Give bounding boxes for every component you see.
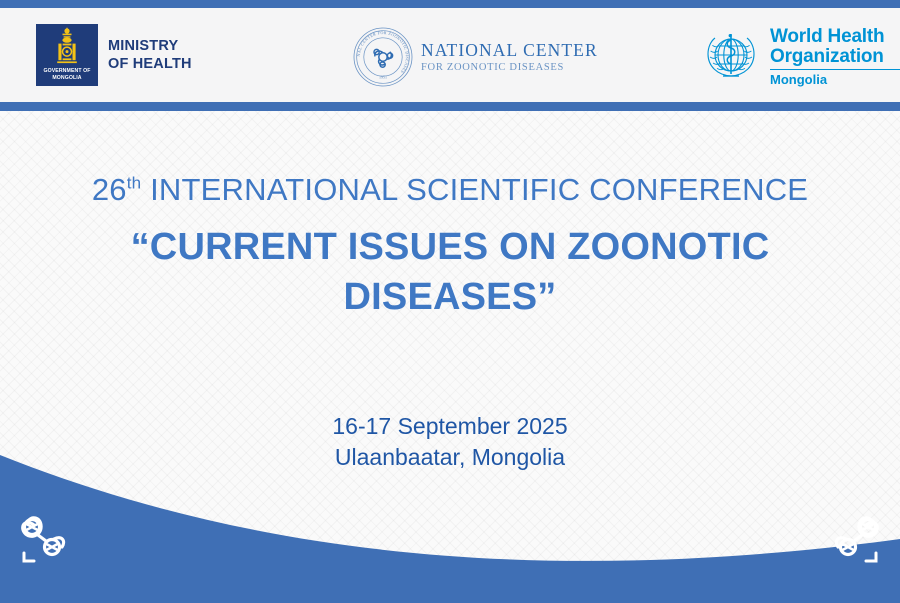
title-block: 26th INTERNATIONAL SCIENTIFIC CONFERENCE… [0, 171, 900, 322]
mongolia-state-emblem-icon: GOVERNMENT OF MONGOLIA [36, 24, 98, 86]
theme-title-line1: “CURRENT ISSUES ON ZOONOTIC [0, 222, 900, 272]
logo-world-health-organization: World Health Organization Mongolia [700, 26, 900, 88]
theme-title-line2: DISEASES” [0, 272, 900, 322]
theme-title: “CURRENT ISSUES ON ZOONOTIC DISEASES” [0, 222, 900, 322]
conference-poster: GOVERNMENT OF MONGOLIA MINISTRY OF HEALT… [0, 0, 900, 603]
mongolian-ulzii-knot-left-icon [16, 509, 84, 571]
who-emblem-icon [700, 26, 762, 88]
emblem-caption-line2: MONGOLIA [52, 75, 81, 81]
moh-label-line1: MINISTRY [108, 37, 192, 55]
event-location: Ulaanbaatar, Mongolia [0, 442, 900, 473]
ministry-of-health-label: MINISTRY OF HEALTH [108, 37, 192, 73]
nczd-name: NATIONAL CENTER [421, 41, 598, 60]
conference-ordinal: th [127, 174, 142, 193]
conference-heading-text: INTERNATIONAL SCIENTIFIC CONFERENCE [141, 172, 808, 207]
moh-label-line2: OF HEALTH [108, 55, 192, 73]
logo-ministry-of-health: GOVERNMENT OF MONGOLIA MINISTRY OF HEALT… [36, 24, 192, 86]
who-name-line1: World Health [770, 27, 900, 47]
header-logo-band: GOVERNMENT OF MONGOLIA MINISTRY OF HEALT… [0, 8, 900, 102]
who-country-label: Mongolia [770, 72, 900, 87]
logo-national-center-zoonotic-diseases: NATIONAL CENTER FOR ZOONOTIC DISEASES 19… [352, 26, 598, 88]
nczd-subtitle: FOR ZOONOTIC DISEASES [421, 61, 598, 74]
who-divider-rule [770, 69, 900, 71]
mongolian-ulzii-knot-right-icon [816, 509, 884, 571]
date-location-block: 16-17 September 2025 Ulaanbaatar, Mongol… [0, 411, 900, 473]
poster-body: 26th INTERNATIONAL SCIENTIFIC CONFERENCE… [0, 111, 900, 603]
conference-heading: 26th INTERNATIONAL SCIENTIFIC CONFERENCE [0, 171, 900, 209]
conference-number: 26 [92, 172, 127, 207]
who-name-line2: Organization [770, 47, 900, 67]
emblem-caption-line1: GOVERNMENT OF [43, 68, 90, 74]
svg-text:1951: 1951 [379, 75, 387, 80]
nczd-seal-icon: NATIONAL CENTER FOR ZOONOTIC DISEASES 19… [352, 26, 414, 88]
top-accent-bar [0, 0, 900, 8]
header-separator-bar [0, 102, 900, 111]
event-date: 16-17 September 2025 [0, 411, 900, 442]
